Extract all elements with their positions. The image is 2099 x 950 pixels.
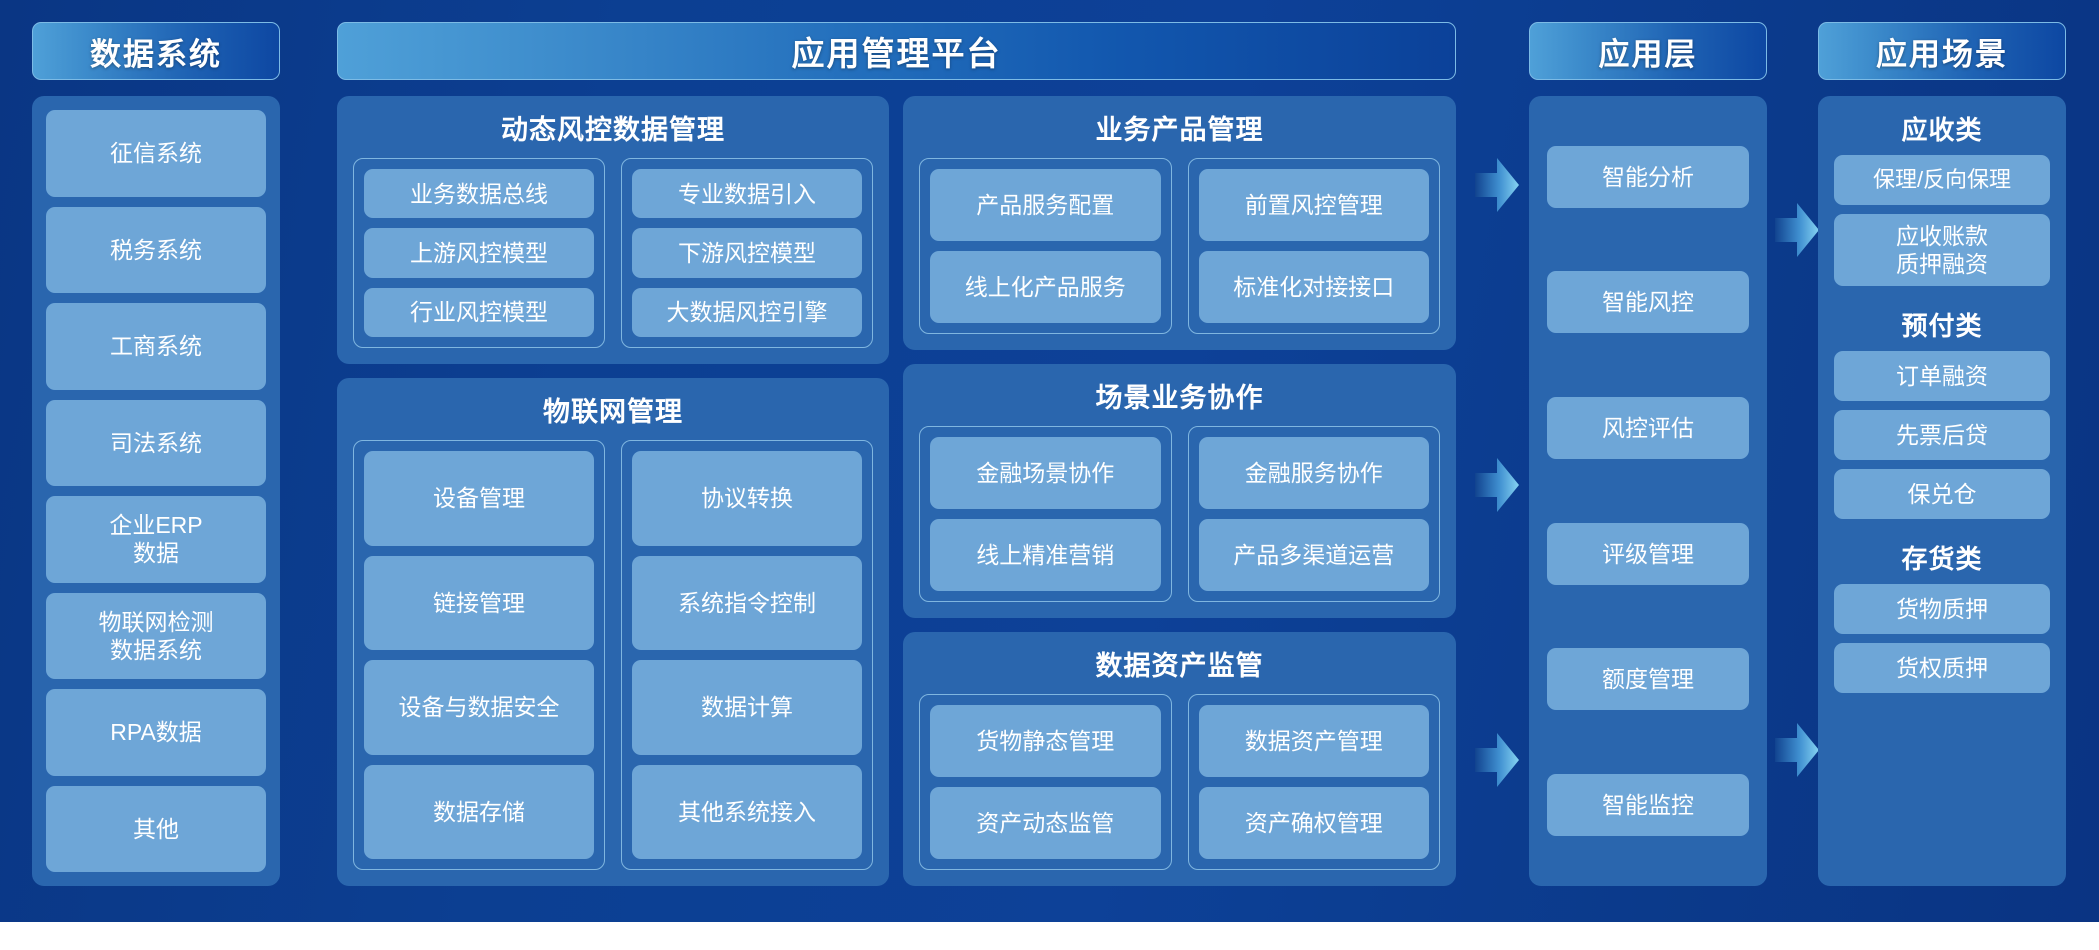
platform-right-column: 业务产品管理 产品服务配置 线上化产品服务 前置风控管理 标准化对接接口 (903, 96, 1456, 886)
module-item[interactable]: 行业风控模型 (364, 288, 594, 337)
module-item[interactable]: 下游风控模型 (632, 228, 862, 277)
diagram-canvas: 数据系统 征信系统 税务系统 工商系统 司法系统 企业ERP 数据 物联网检测 … (0, 0, 2099, 950)
module-item[interactable]: 链接管理 (364, 556, 594, 651)
column-data-systems: 数据系统 征信系统 税务系统 工商系统 司法系统 企业ERP 数据 物联网检测 … (32, 22, 280, 886)
diagram-background: 数据系统 征信系统 税务系统 工商系统 司法系统 企业ERP 数据 物联网检测 … (0, 0, 2099, 922)
module-dynamic-risk-data: 动态风控数据管理 业务数据总线 上游风控模型 行业风控模型 专业数据引入 下游风… (337, 96, 889, 364)
module-item[interactable]: 设备管理 (364, 451, 594, 546)
arrow-right-icon-5 (1475, 455, 1519, 515)
application-layer-item[interactable]: 风控评估 (1547, 397, 1749, 459)
scenario-item[interactable]: 保理/反向保理 (1834, 155, 2050, 205)
platform-left-column: 动态风控数据管理 业务数据总线 上游风控模型 行业风控模型 专业数据引入 下游风… (337, 96, 889, 886)
module-item[interactable]: 前置风控管理 (1199, 169, 1430, 241)
application-scenarios-panel: 应收类 保理/反向保理 应收账款 质押融资 预付类 订单融资 先票后贷 保兑仓 (1818, 96, 2066, 886)
platform-title: 应用管理平台 (337, 22, 1456, 80)
module-title: 业务产品管理 (919, 108, 1440, 147)
application-layer-item[interactable]: 智能监控 (1547, 774, 1749, 836)
scenario-group-heading: 预付类 (1834, 306, 2050, 343)
module-item[interactable]: 数据存储 (364, 765, 594, 860)
module-subgroup: 金融场景协作 线上精准营销 (919, 426, 1172, 602)
scenario-item[interactable]: 先票后贷 (1834, 410, 2050, 460)
application-scenarios-title: 应用场景 (1818, 22, 2066, 80)
column-platform: 应用管理平台 动态风控数据管理 业务数据总线 上游风控模型 行业风控模型 (337, 22, 1456, 886)
module-item[interactable]: 大数据风控引擎 (632, 288, 862, 337)
data-system-item[interactable]: RPA数据 (46, 689, 266, 776)
scenario-group-heading: 应收类 (1834, 110, 2050, 147)
scenario-item[interactable]: 货权质押 (1834, 643, 2050, 693)
application-layer-item[interactable]: 额度管理 (1547, 648, 1749, 710)
module-item[interactable]: 专业数据引入 (632, 169, 862, 218)
scenario-group-heading: 存货类 (1834, 539, 2050, 576)
application-layer-panel: 智能分析 智能风控 风控评估 评级管理 额度管理 智能监控 (1529, 96, 1767, 886)
data-system-item[interactable]: 司法系统 (46, 400, 266, 487)
scenario-group-inventory: 存货类 货物质押 货权质押 (1834, 539, 2050, 693)
arrow-right-icon-6 (1475, 730, 1519, 790)
module-subgroup: 产品服务配置 线上化产品服务 (919, 158, 1172, 334)
module-item[interactable]: 资产确权管理 (1199, 787, 1430, 859)
scenario-item[interactable]: 订单融资 (1834, 351, 2050, 401)
data-system-item[interactable]: 企业ERP 数据 (46, 496, 266, 583)
column-application-scenarios: 应用场景 应收类 保理/反向保理 应收账款 质押融资 预付类 订单融资 先票后贷… (1818, 22, 2066, 886)
module-business-product: 业务产品管理 产品服务配置 线上化产品服务 前置风控管理 标准化对接接口 (903, 96, 1456, 350)
module-item[interactable]: 货物静态管理 (930, 705, 1161, 777)
module-item[interactable]: 系统指令控制 (632, 556, 862, 651)
module-item[interactable]: 标准化对接接口 (1199, 251, 1430, 323)
platform-body: 动态风控数据管理 业务数据总线 上游风控模型 行业风控模型 专业数据引入 下游风… (337, 96, 1456, 886)
module-item[interactable]: 数据资产管理 (1199, 705, 1430, 777)
module-item[interactable]: 资产动态监管 (930, 787, 1161, 859)
data-systems-title: 数据系统 (32, 22, 280, 80)
data-system-item[interactable]: 税务系统 (46, 207, 266, 294)
module-item[interactable]: 数据计算 (632, 660, 862, 755)
module-title: 场景业务协作 (919, 376, 1440, 415)
module-subgroup: 前置风控管理 标准化对接接口 (1188, 158, 1441, 334)
module-subgroup: 金融服务协作 产品多渠道运营 (1188, 426, 1441, 602)
scenario-item[interactable]: 货物质押 (1834, 584, 2050, 634)
module-item[interactable]: 线上化产品服务 (930, 251, 1161, 323)
module-item[interactable]: 业务数据总线 (364, 169, 594, 218)
module-item[interactable]: 线上精准营销 (930, 519, 1161, 591)
scenario-item[interactable]: 应收账款 质押融资 (1834, 214, 2050, 286)
scenario-group-prepayment: 预付类 订单融资 先票后贷 保兑仓 (1834, 306, 2050, 519)
application-layer-item[interactable]: 智能风控 (1547, 271, 1749, 333)
data-system-item[interactable]: 物联网检测 数据系统 (46, 593, 266, 680)
module-title: 物联网管理 (353, 390, 873, 429)
data-system-item[interactable]: 征信系统 (46, 110, 266, 197)
module-item[interactable]: 其他系统接入 (632, 765, 862, 860)
module-scenario-collaboration: 场景业务协作 金融场景协作 线上精准营销 金融服务协作 产品多渠道运营 (903, 364, 1456, 618)
arrow-right-icon-7 (1775, 200, 1819, 260)
application-layer-title: 应用层 (1529, 22, 1767, 80)
module-iot-management: 物联网管理 设备管理 链接管理 设备与数据安全 数据存储 协议转换 系统指令控制 (337, 378, 889, 886)
module-item[interactable]: 金融服务协作 (1199, 437, 1430, 509)
module-title: 数据资产监管 (919, 644, 1440, 683)
module-subgroup: 设备管理 链接管理 设备与数据安全 数据存储 (353, 440, 605, 870)
module-subgroup: 业务数据总线 上游风控模型 行业风控模型 (353, 158, 605, 348)
module-data-asset-supervision: 数据资产监管 货物静态管理 资产动态监管 数据资产管理 资产确权管理 (903, 632, 1456, 886)
module-item[interactable]: 产品多渠道运营 (1199, 519, 1430, 591)
data-systems-panel: 征信系统 税务系统 工商系统 司法系统 企业ERP 数据 物联网检测 数据系统 … (32, 96, 280, 886)
application-layer-item[interactable]: 评级管理 (1547, 523, 1749, 585)
scenario-item[interactable]: 保兑仓 (1834, 469, 2050, 519)
scenario-group-receivables: 应收类 保理/反向保理 应收账款 质押融资 (1834, 110, 2050, 286)
module-subgroup: 专业数据引入 下游风控模型 大数据风控引擎 (621, 158, 873, 348)
module-subgroup: 协议转换 系统指令控制 数据计算 其他系统接入 (621, 440, 873, 870)
module-title: 动态风控数据管理 (353, 108, 873, 147)
data-system-item[interactable]: 其他 (46, 786, 266, 873)
column-application-layer: 应用层 智能分析 智能风控 风控评估 评级管理 额度管理 智能监控 (1529, 22, 1767, 886)
application-layer-item[interactable]: 智能分析 (1547, 146, 1749, 208)
module-item[interactable]: 协议转换 (632, 451, 862, 546)
module-item[interactable]: 金融场景协作 (930, 437, 1161, 509)
module-item[interactable]: 产品服务配置 (930, 169, 1161, 241)
data-system-item[interactable]: 工商系统 (46, 303, 266, 390)
module-subgroup: 货物静态管理 资产动态监管 (919, 694, 1172, 870)
arrow-right-icon-8 (1775, 720, 1819, 780)
module-item[interactable]: 设备与数据安全 (364, 660, 594, 755)
module-subgroup: 数据资产管理 资产确权管理 (1188, 694, 1441, 870)
arrow-right-icon-4 (1475, 155, 1519, 215)
module-item[interactable]: 上游风控模型 (364, 228, 594, 277)
